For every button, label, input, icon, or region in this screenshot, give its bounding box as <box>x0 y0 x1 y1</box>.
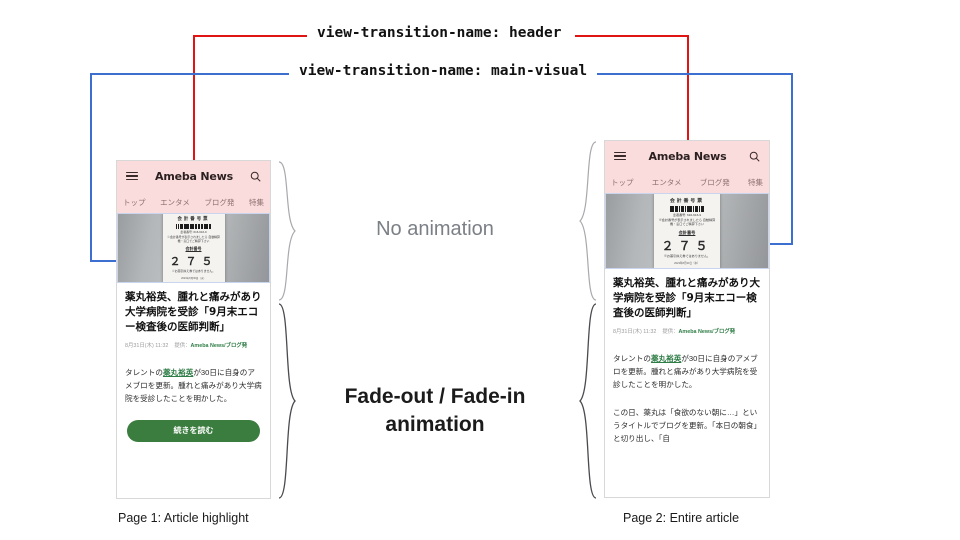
nav-tab-feature[interactable]: 特集 <box>249 197 264 208</box>
article-meta: 8月31日(木) 11:32 提供：Ameba News/ブログ発 <box>613 328 761 336</box>
brace-left-no-animation <box>276 160 298 302</box>
main-visual-line-right-entry <box>767 243 793 245</box>
ticket-note: ※会計番号が表示されましたら 自動精算機・窓口でご精算下さい <box>657 219 717 227</box>
main-visual-image: 会計番号票 患者番号: 616-616-9 ※会計番号が表示されましたら 自動精… <box>117 213 270 283</box>
app-topbar: Ameba News <box>605 141 769 171</box>
article-provider: Ameba News/ブログ発 <box>191 343 248 349</box>
main-visual-line-left-vertical <box>90 73 92 262</box>
caption-page-2: Page 2: Entire article <box>623 511 739 525</box>
article-person-link[interactable]: 薬丸裕英 <box>163 368 193 377</box>
article-body: 薬丸裕英、腫れと痛みがあり大学病院を受診「9月末エコー検査後の医師判断」 8月3… <box>117 283 270 442</box>
article-provider: Ameba News/ブログ発 <box>679 329 736 335</box>
app-topbar: Ameba News <box>117 161 270 191</box>
phone-mockup-page-1: Ameba News トップ エンタメ ブログ発 特集 会計番号票 <box>116 160 271 499</box>
label-fade-animation: Fade-out / Fade-in animation <box>297 383 573 440</box>
header-line-right-vertical <box>687 35 689 141</box>
article-date: 8月31日(木) 11:32 <box>613 329 656 335</box>
hamburger-icon[interactable] <box>126 172 138 181</box>
label-no-animation: No animation <box>307 218 563 241</box>
barcode-icon <box>176 224 211 229</box>
brace-left-fade-animation <box>276 302 298 500</box>
main-visual-line-top-right <box>597 73 793 75</box>
brace-right-fade-animation <box>577 302 599 500</box>
article-paragraph-1: タレントの薬丸裕英が30日に自身のアメブロを更新。腫れと痛みがあり大学病院を受診… <box>613 352 761 392</box>
article-body: 薬丸裕英、腫れと痛みがあり大学病院を受診「9月末エコー検査後の医師判断」 8月3… <box>605 269 769 445</box>
hamburger-icon[interactable] <box>614 152 626 161</box>
main-visual-line-right-vertical <box>791 73 793 245</box>
ticket-number: ２７５ <box>661 237 712 254</box>
search-icon[interactable] <box>749 151 760 162</box>
article-title: 薬丸裕英、腫れと痛みがあり大学病院を受診「9月末エコー検査後の医師判断」 <box>125 290 262 336</box>
ticket-date: 2023年8月30日（水） <box>181 276 206 280</box>
header-line-top-right <box>575 35 688 37</box>
ticket-title: 会計番号票 <box>178 216 210 222</box>
search-icon[interactable] <box>250 171 261 182</box>
read-more-button[interactable]: 続きを読む <box>127 420 260 442</box>
app-nav-tabs: トップ エンタメ ブログ発 特集 <box>605 171 769 193</box>
nav-tab-blog[interactable]: ブログ発 <box>700 177 730 188</box>
annotation-header-transition: view-transition-name: header <box>307 25 571 41</box>
nav-tab-top[interactable]: トップ <box>123 197 146 208</box>
article-date: 8月31日(木) 11:32 <box>125 343 168 349</box>
receipt-ticket: 会計番号票 患者番号: 616-616-9 ※会計番号が表示されましたら 自動精… <box>163 213 225 283</box>
diagram-canvas: view-transition-name: header view-transi… <box>0 0 960 540</box>
app-brand-logo: Ameba News <box>155 170 233 183</box>
ticket-disclaimer: ※お薬引換え券ではありません。 <box>172 270 215 274</box>
app-brand-logo: Ameba News <box>649 150 727 163</box>
app-header: Ameba News トップ エンタメ ブログ発 特集 <box>605 141 769 193</box>
article-paragraph-2: この日、薬丸は「食欲のない朝に…」というタイトルでブログを更新。「本日の朝食」と… <box>613 406 761 446</box>
header-line-left-vertical <box>193 35 195 161</box>
ticket-number-label: 会計番号 <box>679 230 696 236</box>
ticket-number: ２７５ <box>170 253 218 269</box>
paragraph-1-pre: タレントの <box>613 354 651 363</box>
main-visual-image: 会計番号票 患者番号: 616-616-9 ※会計番号が表示されましたら 自動精… <box>605 193 769 269</box>
paragraph-1-pre: タレントの <box>125 368 163 377</box>
annotation-main-visual-transition: view-transition-name: main-visual <box>289 63 597 79</box>
nav-tab-entame[interactable]: エンタメ <box>160 197 190 208</box>
ticket-note: ※会計番号が表示されましたら 自動精算機・窓口でご精算下さい <box>166 236 222 243</box>
article-paragraph-1: タレントの薬丸裕英が30日に自身のアメブロを更新。腫れと痛みがあり大学病院を受診… <box>125 366 262 406</box>
nav-tab-blog[interactable]: ブログ発 <box>204 197 234 208</box>
article-person-link[interactable]: 薬丸裕英 <box>651 354 681 363</box>
article-meta: 8月31日(木) 11:32 提供：Ameba News/ブログ発 <box>125 342 262 350</box>
caption-page-1: Page 1: Article highlight <box>118 511 249 525</box>
phone-mockup-page-2: Ameba News トップ エンタメ ブログ発 特集 会計番号票 <box>604 140 770 498</box>
article-title: 薬丸裕英、腫れと痛みがあり大学病院を受診「9月末エコー検査後の医師判断」 <box>613 276 761 322</box>
main-visual-line-top-left <box>90 73 289 75</box>
ticket-disclaimer: ※お薬引換え券ではありません。 <box>664 255 710 259</box>
barcode-icon <box>670 206 705 212</box>
nav-tab-feature[interactable]: 特集 <box>748 177 763 188</box>
ticket-number-label: 会計番号 <box>186 246 202 252</box>
header-line-top-left <box>193 35 313 37</box>
ticket-date: 2023年8月30日（水） <box>674 261 700 265</box>
app-nav-tabs: トップ エンタメ ブログ発 特集 <box>117 191 270 213</box>
article-provider-label: 提供： <box>662 329 678 335</box>
nav-tab-top[interactable]: トップ <box>611 177 634 188</box>
nav-tab-entame[interactable]: エンタメ <box>652 177 682 188</box>
receipt-ticket: 会計番号票 患者番号: 616-616-9 ※会計番号が表示されましたら 自動精… <box>654 193 720 268</box>
app-header: Ameba News トップ エンタメ ブログ発 特集 <box>117 161 270 213</box>
ticket-title: 会計番号票 <box>670 197 704 204</box>
article-provider-label: 提供： <box>174 343 190 349</box>
brace-right-no-animation <box>577 140 599 302</box>
